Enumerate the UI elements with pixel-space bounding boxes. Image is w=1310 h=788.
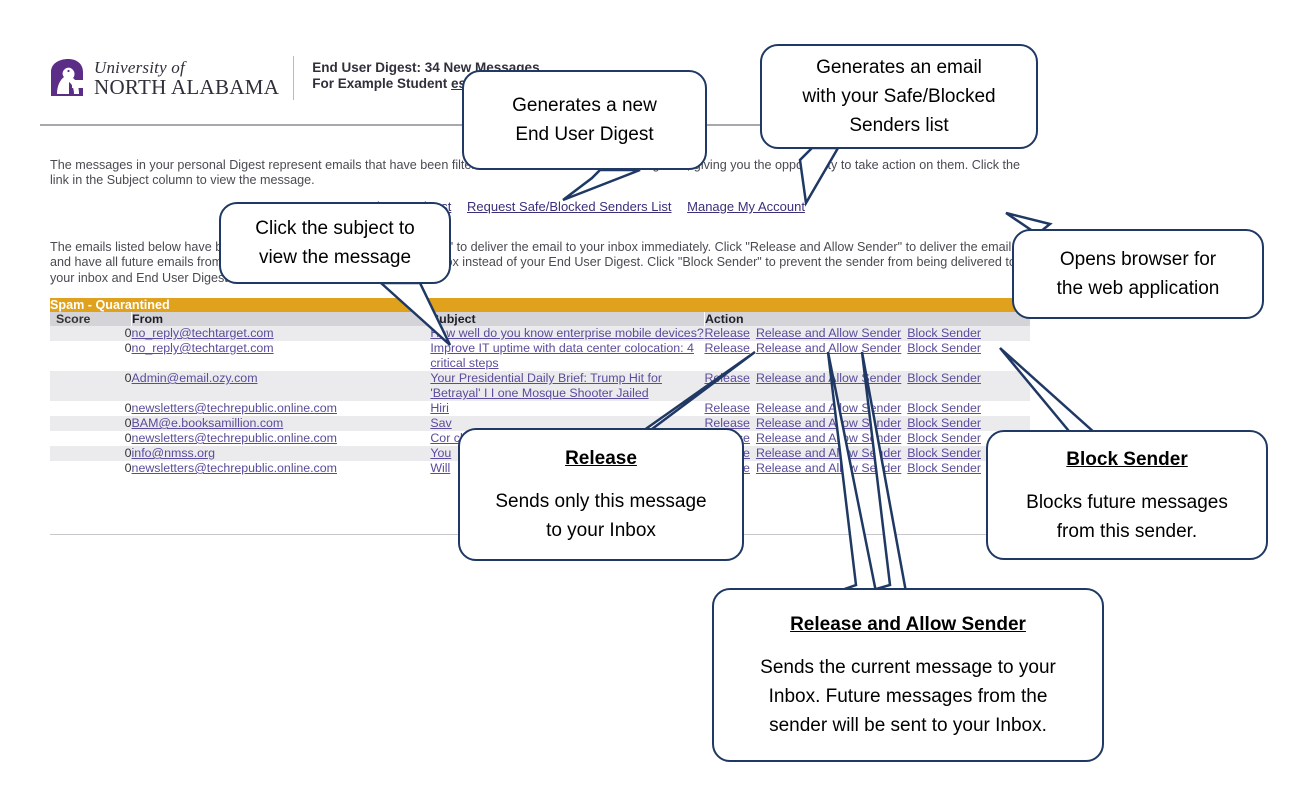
row-subject: Improve IT uptime with data center coloc… (430, 341, 704, 371)
row-score: 0 (50, 341, 132, 371)
logo-line-2: NORTH ALABAMA (94, 77, 279, 98)
block-sender-link[interactable]: Block Sender (907, 446, 981, 460)
digest-recipient-prefix: For Example Student (312, 76, 451, 91)
table-category-band: Spam - Quarantined (50, 298, 1030, 312)
release-link[interactable]: Release (704, 371, 749, 385)
row-score: 0 (50, 431, 132, 446)
callout-release-allow-body: Sends the current message to yourInbox. … (760, 653, 1056, 740)
row-subject: Your Presidential Daily Brief: Trump Hit… (430, 371, 704, 401)
callout-manage-account: Opens browser forthe web application (1012, 229, 1264, 319)
release-link[interactable]: Release (704, 401, 749, 415)
header-from: From (132, 312, 431, 326)
row-actions: ReleaseRelease and Allow SenderBlock Sen… (704, 326, 1030, 341)
row-score: 0 (50, 326, 132, 341)
from-link[interactable]: newsletters@techrepublic.online.com (132, 431, 337, 445)
callout-release-allow: Release and Allow Sender Sends the curre… (712, 588, 1104, 762)
subject-link[interactable]: Sav (430, 416, 451, 430)
request-senders-list-link[interactable]: Request Safe/Blocked Senders List (467, 199, 672, 214)
callout-release-body: Sends only this messageto your Inbox (495, 487, 706, 545)
row-from: BAM@e.booksamillion.com (132, 416, 431, 431)
callout-block-sender-body: Blocks future messagesfrom this sender. (1026, 488, 1228, 546)
action-links-row: Request New End User Digest Request Safe… (50, 199, 1030, 214)
release-allow-link[interactable]: Release and Allow Sender (756, 401, 901, 415)
row-from: newsletters@techrepublic.online.com (132, 431, 431, 446)
row-score: 0 (50, 446, 132, 461)
row-score: 0 (50, 461, 132, 476)
subject-link[interactable]: You (430, 446, 451, 460)
callout-senders-list: Generates an emailwith your Safe/Blocked… (760, 44, 1038, 149)
logo-line-1: University of (94, 59, 279, 76)
callout-manage-account-body: Opens browser forthe web application (1057, 245, 1220, 303)
release-allow-link[interactable]: Release and Allow Sender (756, 431, 901, 445)
release-allow-link[interactable]: Release and Allow Sender (756, 371, 901, 385)
subject-link[interactable]: Improve IT uptime with data center coloc… (430, 341, 694, 370)
lion-shield-logo-icon (48, 58, 86, 98)
callout-new-digest: Generates a newEnd User Digest (462, 70, 707, 170)
release-link[interactable]: Release (704, 326, 749, 340)
release-link[interactable]: Release (704, 341, 749, 355)
release-allow-link[interactable]: Release and Allow Sender (756, 446, 901, 460)
una-logo: University of NORTH ALABAMA (48, 56, 294, 100)
row-score: 0 (50, 371, 132, 401)
row-actions: ReleaseRelease and Allow SenderBlock Sen… (704, 416, 1030, 431)
subject-link[interactable]: Will (430, 461, 450, 475)
row-from: Admin@email.ozy.com (132, 371, 431, 401)
una-logo-wordmark: University of NORTH ALABAMA (94, 59, 279, 98)
header-subject: Subject (430, 312, 704, 326)
callout-release-allow-title: Release and Allow Sender (790, 610, 1026, 639)
block-sender-link[interactable]: Block Sender (907, 341, 981, 355)
row-subject: Hiri (430, 401, 704, 416)
row-from: no_reply@techtarget.com (132, 341, 431, 371)
from-link[interactable]: newsletters@techrepublic.online.com (132, 401, 337, 415)
from-link[interactable]: Admin@email.ozy.com (132, 371, 258, 385)
from-link[interactable]: no_reply@techtarget.com (132, 326, 274, 340)
release-allow-link[interactable]: Release and Allow Sender (756, 341, 901, 355)
row-subject: How well do you know enterprise mobile d… (430, 326, 704, 341)
subject-link[interactable]: How well do you know enterprise mobile d… (430, 326, 703, 340)
release-allow-link[interactable]: Release and Allow Sender (756, 326, 901, 340)
release-allow-link[interactable]: Release and Allow Sender (756, 461, 901, 475)
block-sender-link[interactable]: Block Sender (907, 461, 981, 475)
callout-block-sender-title: Block Sender (1066, 445, 1187, 474)
block-sender-link[interactable]: Block Sender (907, 326, 981, 340)
table-row: 0 Admin@email.ozy.com Your Presidential … (50, 371, 1030, 401)
from-link[interactable]: info@nmss.org (132, 446, 216, 460)
row-actions: ReleaseRelease and Allow SenderBlock Sen… (704, 446, 1030, 461)
block-sender-link[interactable]: Block Sender (907, 401, 981, 415)
callout-release-title: Release (565, 444, 637, 473)
from-link[interactable]: no_reply@techtarget.com (132, 341, 274, 355)
row-from: newsletters@techrepublic.online.com (132, 461, 431, 476)
release-allow-link[interactable]: Release and Allow Sender (756, 416, 901, 430)
callout-new-digest-body: Generates a newEnd User Digest (512, 91, 657, 149)
row-actions: ReleaseRelease and Allow SenderBlock Sen… (704, 461, 1030, 476)
block-sender-link[interactable]: Block Sender (907, 416, 981, 430)
row-from: no_reply@techtarget.com (132, 326, 431, 341)
subject-link[interactable]: Your Presidential Daily Brief: Trump Hit… (430, 371, 662, 400)
row-actions: ReleaseRelease and Allow SenderBlock Sen… (704, 371, 1030, 401)
row-actions: ReleaseRelease and Allow SenderBlock Sen… (704, 401, 1030, 416)
subject-link[interactable]: Hiri (430, 401, 449, 415)
table-row: 0 no_reply@techtarget.com Improve IT upt… (50, 341, 1030, 371)
block-sender-link[interactable]: Block Sender (907, 431, 981, 445)
table-header-row: Score From Subject Action (50, 312, 1030, 326)
callout-click-subject: Click the subject toview the message (219, 202, 451, 284)
callout-click-subject-body: Click the subject toview the message (255, 214, 414, 272)
row-from: newsletters@techrepublic.online.com (132, 401, 431, 416)
header-action: Action (704, 312, 1030, 326)
row-score: 0 (50, 416, 132, 431)
callout-block-sender: Block Sender Blocks future messagesfrom … (986, 430, 1268, 560)
table-row: 0 newsletters@techrepublic.online.com Hi… (50, 401, 1030, 416)
from-link[interactable]: newsletters@techrepublic.online.com (132, 461, 337, 475)
row-score: 0 (50, 401, 132, 416)
band-label: Spam - Quarantined (50, 298, 1030, 312)
row-actions: ReleaseRelease and Allow SenderBlock Sen… (704, 431, 1030, 446)
table-row: 0 no_reply@techtarget.com How well do yo… (50, 326, 1030, 341)
block-sender-link[interactable]: Block Sender (907, 371, 981, 385)
row-actions: ReleaseRelease and Allow SenderBlock Sen… (704, 341, 1030, 371)
callout-senders-list-body: Generates an emailwith your Safe/Blocked… (802, 53, 995, 140)
row-from: info@nmss.org (132, 446, 431, 461)
callout-release: Release Sends only this messageto your I… (458, 428, 744, 561)
manage-account-link[interactable]: Manage My Account (687, 199, 805, 214)
from-link[interactable]: BAM@e.booksamillion.com (132, 416, 284, 430)
header-score: Score (50, 312, 132, 326)
intro-paragraph-2: The emails listed below have been placed… (50, 240, 1025, 286)
